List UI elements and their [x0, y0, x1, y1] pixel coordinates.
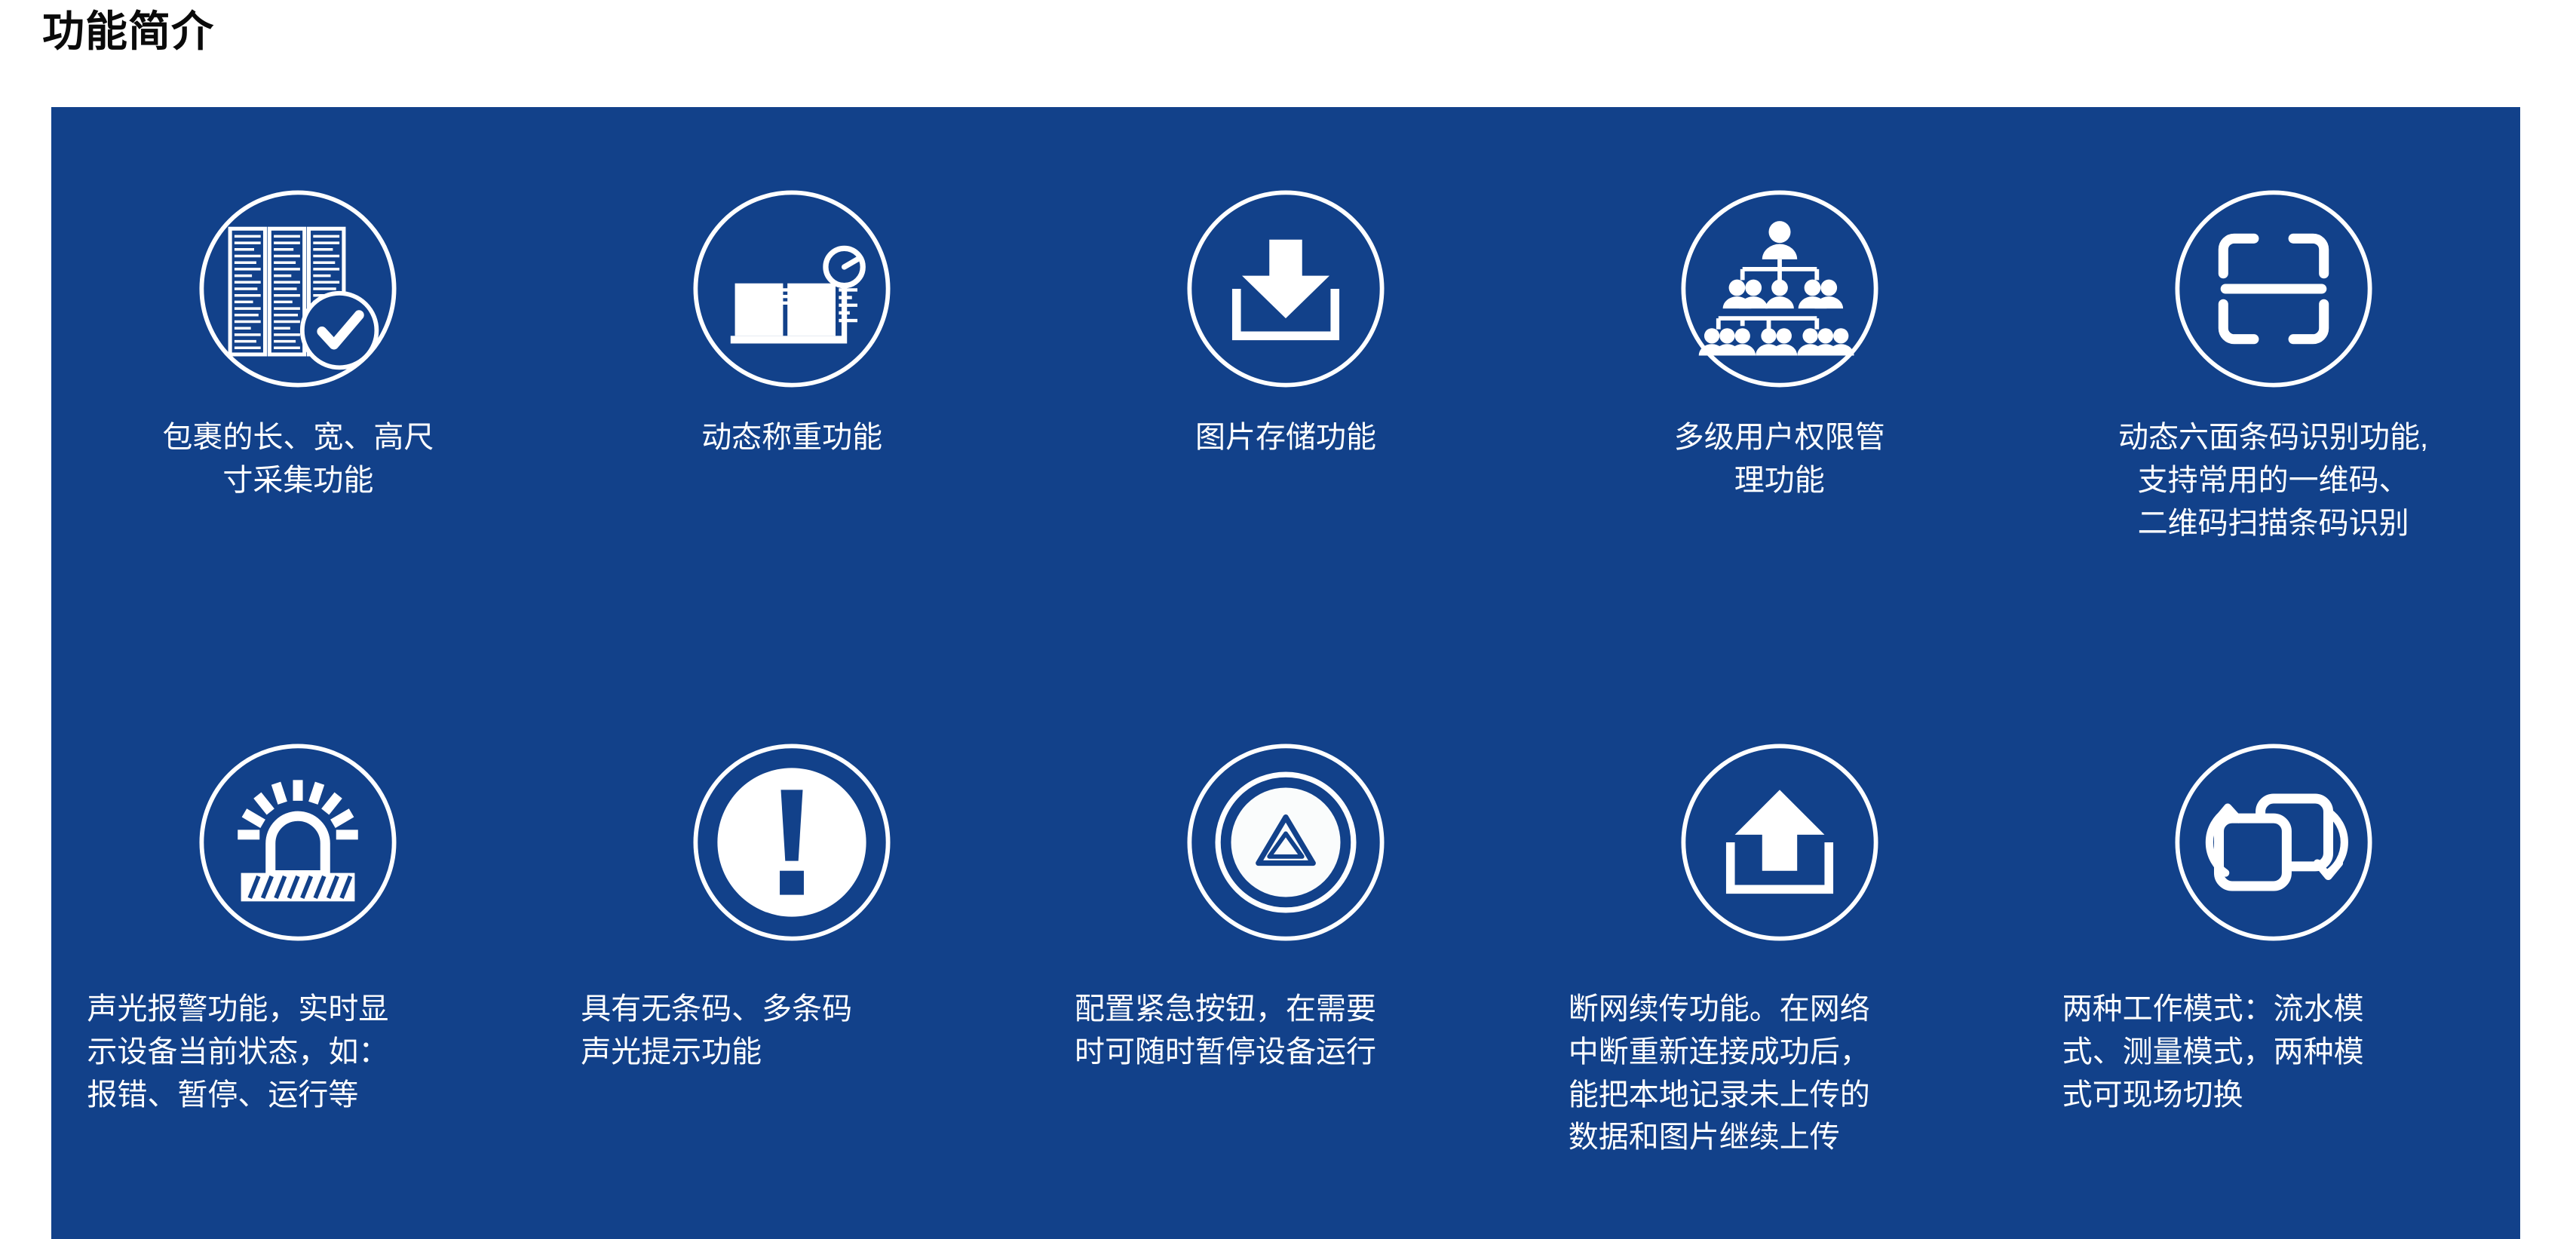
feature-grid: 包裹的长、宽、高尺 寸采集功能 — [51, 107, 2520, 1239]
feature-item-barcode-recognition[interactable]: 动态六面条码识别功能, 支持常用的一维码、 二维码扫描条码识别 — [2026, 179, 2520, 544]
package-dimension-check-icon — [189, 179, 407, 398]
feature-label-holder: 声光报警功能，实时显 示设备当前状态，如： 报错、暂停、运行等 — [87, 952, 509, 1116]
feature-panel: 包裹的长、宽、高尺 寸采集功能 — [51, 107, 2520, 1239]
feature-item-user-permission[interactable]: 多级用户权限管 理功能 — [1532, 179, 2026, 544]
dynamic-weighing-scale-icon — [682, 179, 901, 398]
feature-label: 图片存储功能 — [1082, 416, 1489, 459]
emergency-stop-button-icon — [1176, 733, 1395, 952]
dual-mode-switch-icon — [2164, 733, 2383, 952]
multilevel-user-hierarchy-icon — [1670, 179, 1889, 398]
feature-label: 包裹的长、宽、高尺 寸采集功能 — [94, 416, 501, 502]
barcode-scan-frame-icon — [2164, 179, 2383, 398]
exclamation-alert-icon — [682, 733, 901, 952]
feature-item-alarm-light[interactable]: 声光报警功能，实时显 示设备当前状态，如： 报错、暂停、运行等 — [51, 733, 545, 1159]
feature-label: 具有无条码、多条码 声光提示功能 — [581, 988, 1003, 1074]
feature-label-holder: 两种工作模式：流水模 式、测量模式，两种模 式可现场切换 — [2062, 952, 2485, 1116]
feature-item-image-storage[interactable]: 图片存储功能 — [1039, 179, 1533, 544]
alarm-beacon-light-icon — [189, 733, 407, 952]
feature-item-emergency-button[interactable]: 配置紧急按钮，在需要 时可随时暂停设备运行 — [1039, 733, 1533, 1159]
feature-item-barcode-alert[interactable]: 具有无条码、多条码 声光提示功能 — [545, 733, 1039, 1159]
image-storage-download-icon — [1176, 179, 1395, 398]
feature-label-holder: 断网续传功能。在网络 中断重新连接成功后， 能把本地记录未上传的 数据和图片继续… — [1569, 952, 1991, 1159]
feature-item-dual-mode[interactable]: 两种工作模式：流水模 式、测量模式，两种模 式可现场切换 — [2026, 733, 2520, 1159]
feature-item-dynamic-weighing[interactable]: 动态称重功能 — [545, 179, 1039, 544]
feature-row-2: 声光报警功能，实时显 示设备当前状态，如： 报错、暂停、运行等 具有无条码、多条… — [51, 733, 2520, 1159]
network-resume-upload-icon — [1670, 733, 1889, 952]
feature-label: 断网续传功能。在网络 中断重新连接成功后， 能把本地记录未上传的 数据和图片继续… — [1569, 988, 1991, 1159]
feature-label: 两种工作模式：流水模 式、测量模式，两种模 式可现场切换 — [2062, 988, 2485, 1116]
page-title: 功能简介 — [42, 6, 214, 57]
feature-item-package-dimension[interactable]: 包裹的长、宽、高尺 寸采集功能 — [51, 179, 545, 544]
feature-label: 配置紧急按钮，在需要 时可随时暂停设备运行 — [1075, 988, 1497, 1074]
feature-label-holder: 配置紧急按钮，在需要 时可随时暂停设备运行 — [1075, 952, 1497, 1074]
feature-label: 声光报警功能，实时显 示设备当前状态，如： 报错、暂停、运行等 — [87, 988, 509, 1116]
feature-item-network-resume[interactable]: 断网续传功能。在网络 中断重新连接成功后， 能把本地记录未上传的 数据和图片继续… — [1532, 733, 2026, 1159]
feature-label: 动态称重功能 — [588, 416, 995, 459]
feature-label-holder: 具有无条码、多条码 声光提示功能 — [581, 952, 1003, 1074]
feature-row-1: 包裹的长、宽、高尺 寸采集功能 — [51, 179, 2520, 544]
feature-label: 动态六面条码识别功能, 支持常用的一维码、 二维码扫描条码识别 — [2070, 416, 2477, 544]
feature-label: 多级用户权限管 理功能 — [1576, 416, 1983, 502]
